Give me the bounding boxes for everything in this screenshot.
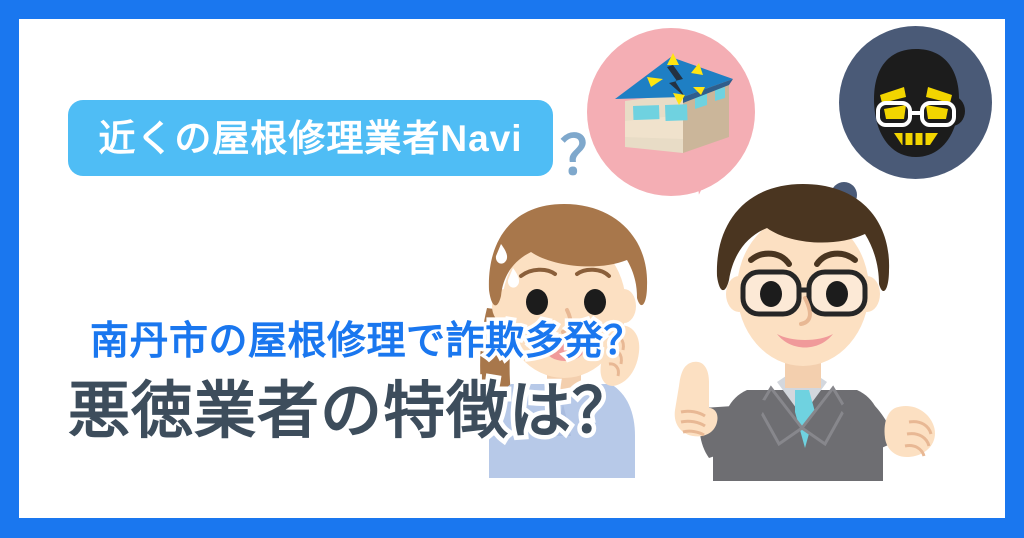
question-mark-decoration: ？ (560, 129, 614, 183)
villain-face-icon (864, 47, 969, 162)
banner-canvas: 近くの屋根修理業者Navi ？ 南丹市の屋根修理で詐欺多発？ 悪徳業者の特徴は？ (19, 19, 1005, 518)
pointing-businessman-illustration (659, 176, 949, 481)
headline-title: 悪徳業者の特徴は？ (68, 381, 635, 443)
damaged-house-icon (611, 49, 737, 171)
banner-frame: 近くの屋根修理業者Navi ？ 南丹市の屋根修理で詐欺多発？ 悪徳業者の特徴は？ (0, 0, 1024, 538)
site-name-badge[interactable]: 近くの屋根修理業者Navi (68, 100, 553, 176)
headline-subtitle: 南丹市の屋根修理で詐欺多発？ (90, 322, 643, 361)
site-name-label: 近くの屋根修理業者Navi (98, 120, 522, 157)
